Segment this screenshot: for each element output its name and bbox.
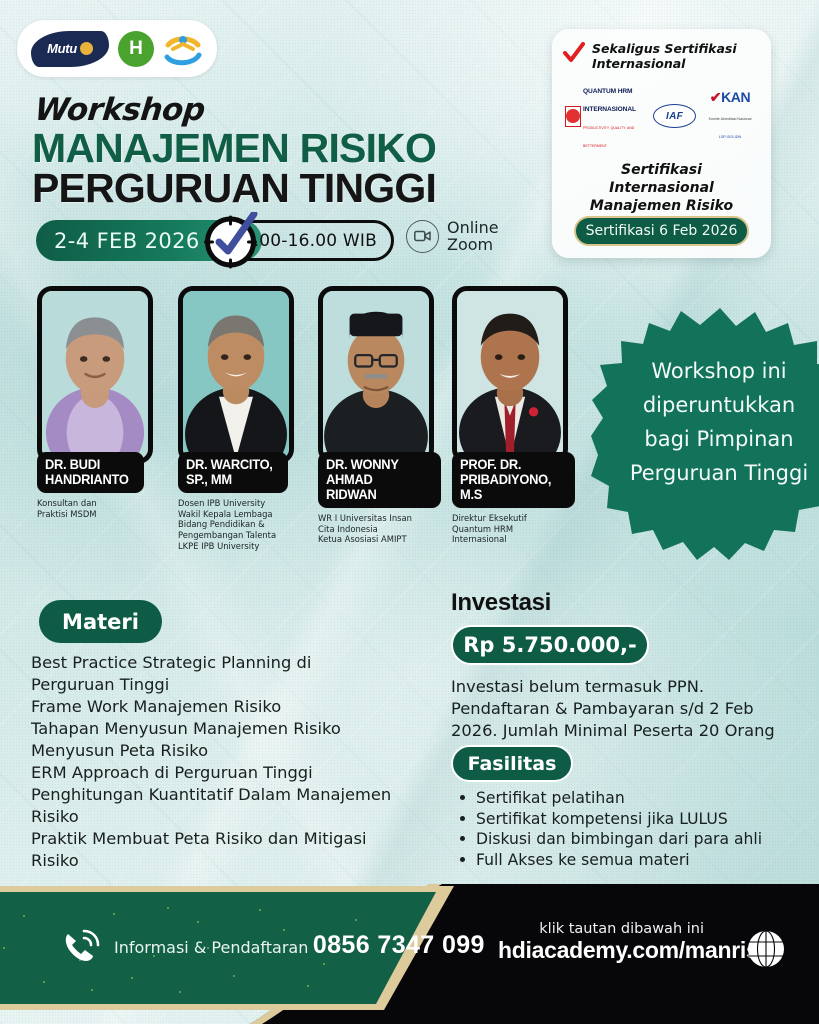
kan-sub2: LSP-003-IDN: [719, 135, 742, 139]
list-item: Penghitungan Kuantitatif Dalam Manajemen…: [31, 784, 396, 828]
audience-starburst-badge: Workshop ini diperuntukkan bagi Pimpinan…: [591, 306, 819, 594]
list-item: Sertifikat pelatihan: [455, 788, 805, 809]
list-item: Tahapan Menyusun Manajemen Risiko: [31, 718, 396, 740]
footer-link-label: klik tautan dibawah ini: [498, 921, 704, 937]
certification-date-button[interactable]: Sertifikasi 6 Feb 2026: [574, 216, 749, 246]
video-camera-icon: [406, 220, 439, 253]
kan-mark: ✔KAN: [710, 89, 750, 105]
check-icon: [563, 42, 585, 64]
iaf-logo: IAF: [653, 104, 696, 128]
online-label-line2: Zoom: [447, 235, 493, 254]
avatar: [37, 286, 153, 464]
speaker-role: Direktur Eksekutif Quantum HRM Internasi…: [452, 513, 575, 545]
list-item: Best Practice Strategic Planning di Perg…: [31, 652, 396, 696]
footer-contact-text: Informasi & Pendaftaran 0856 7347 099: [114, 932, 485, 960]
speaker-name: DR. WONNY AHMAD RIDWAN: [326, 457, 424, 502]
materi-pill: Materi: [39, 600, 162, 643]
mutu-logo-dot-icon: [80, 42, 93, 55]
kan-sub1: Komite Akreditasi Nasional: [709, 117, 752, 121]
speaker-card: DR. BUDI HANDRIANTO Konsultan dan Prakti…: [37, 286, 160, 519]
footer-link-block[interactable]: klik tautan dibawah ini hdiacademy.com/m…: [498, 921, 748, 964]
quantum-hrm-mark-icon: [565, 106, 581, 127]
hdi-logo-text: H: [129, 38, 143, 60]
quantum-hrm-line1: QUANTUM HRM: [583, 88, 632, 95]
certification-headline: Sekaligus Sertifikasi Internasional: [592, 41, 737, 71]
footer-contact[interactable]: Informasi & Pendaftaran 0856 7347 099: [60, 925, 485, 967]
kan-check-icon: ✔: [710, 89, 721, 105]
footer-link-url[interactable]: hdiacademy.com/manrisk: [498, 937, 704, 964]
footer-contact-phone: 0856 7347 099: [313, 931, 485, 959]
materi-list: Best Practice Strategic Planning di Perg…: [31, 652, 396, 872]
speaker-card: DR. WARCITO, SP., MM Dosen IPB Universit…: [178, 286, 301, 552]
fasilitas-pill: Fasilitas: [451, 745, 573, 782]
kan-logo: ✔KAN Komite Akreditasi Nasional LSP-003-…: [702, 89, 758, 143]
mutu-logo: Mutu: [31, 31, 109, 67]
event-date: 2-4 FEB 2026: [54, 229, 200, 253]
mutu-logo-text: Mutu: [47, 41, 77, 56]
fasilitas-list: Sertifikat pelatihan Sertifikat kompeten…: [455, 788, 805, 871]
online-mode-label: Online Zoom: [447, 219, 499, 254]
speaker-name-badge: DR. WONNY AHMAD RIDWAN: [318, 452, 441, 508]
speaker-name-badge: DR. WARCITO, SP., MM: [178, 452, 288, 493]
investasi-note: Investasi belum termasuk PPN. Pendaftara…: [451, 676, 801, 742]
list-item: Frame Work Manajemen Risiko: [31, 696, 396, 718]
quantum-hrm-line2: INTERNASIONAL: [583, 106, 636, 113]
globe-icon: [746, 929, 786, 969]
certification-card: Sekaligus Sertifikasi Internasional QUAN…: [552, 29, 771, 258]
list-item: Diskusi dan bimbingan dari para ahli: [455, 829, 805, 850]
logo-bar: Mutu H: [17, 20, 217, 77]
page-title-line1: MANAJEMEN RISIKO: [32, 128, 436, 169]
quantum-hrm-tagline: PRODUCTIVITY, QUALITY, AND BETTERMENT: [583, 126, 634, 148]
online-mode: Online Zoom: [406, 219, 499, 254]
starburst-text: Workshop ini diperuntukkan bagi Pimpinan…: [621, 354, 817, 490]
kan-mark-text: KAN: [721, 89, 750, 105]
footer-contact-label: Informasi & Pendaftaran: [114, 938, 308, 957]
list-item: Full Akses ke semua materi: [455, 850, 805, 871]
speaker-name: DR. WARCITO, SP., MM: [186, 457, 273, 487]
speaker-name: DR. BUDI HANDRIANTO: [45, 457, 129, 487]
list-item: Menyusun Peta Risiko: [31, 740, 396, 762]
list-item: Praktik Membuat Peta Risiko dan Mitigasi…: [31, 828, 396, 872]
speaker-role: WR I Universitas Insan Cita Indonesia Ke…: [318, 513, 441, 545]
speaker-card: PROF. DR. PRIBADIYONO, M.S Direktur Ekse…: [452, 286, 575, 545]
avatar: [452, 286, 568, 464]
speakers-section: DR. BUDI HANDRIANTO Konsultan dan Prakti…: [0, 286, 600, 586]
phone-icon: [60, 925, 102, 967]
poster-canvas: Mutu H Workshop MANAJEMEN RISIKO PERGURU…: [0, 0, 819, 1024]
list-item: ERM Approach di Perguruan Tinggi: [31, 762, 396, 784]
price-pill: Rp 5.750.000,-: [451, 625, 649, 665]
speaker-role: Konsultan dan Praktisi MSDM: [37, 498, 160, 520]
hdi-logo: H: [118, 31, 154, 67]
clock-check-icon: [202, 212, 259, 269]
investasi-heading: Investasi: [451, 589, 551, 617]
speaker-card: DR. WONNY AHMAD RIDWAN WR I Universitas …: [318, 286, 441, 545]
avatar: [318, 286, 434, 464]
speaker-name: PROF. DR. PRIBADIYONO, M.S: [460, 457, 558, 502]
certification-headline-row: Sekaligus Sertifikasi Internasional: [563, 41, 760, 71]
avatar: [178, 286, 294, 464]
kicker-workshop: Workshop: [33, 92, 207, 128]
online-label-line1: Online: [447, 218, 499, 237]
certification-logo-row: QUANTUM HRM INTERNASIONAL PRODUCTIVITY, …: [565, 80, 758, 152]
speaker-role: Dosen IPB University Wakil Kepala Lembag…: [178, 498, 301, 552]
speaker-name-badge: DR. BUDI HANDRIANTO: [37, 452, 144, 493]
third-partner-logo: [163, 31, 203, 67]
page-title-line2: PERGURUAN TINGGI: [32, 168, 436, 209]
list-item: Sertifikat kompetensi jika LULUS: [455, 809, 805, 830]
speaker-name-badge: PROF. DR. PRIBADIYONO, M.S: [452, 452, 575, 508]
quantum-hrm-logo: QUANTUM HRM INTERNASIONAL PRODUCTIVITY, …: [565, 80, 647, 152]
